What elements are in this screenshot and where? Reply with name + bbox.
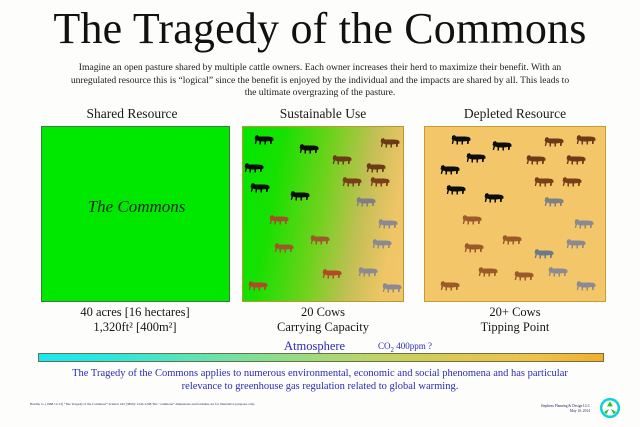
cow-icon xyxy=(243,161,265,174)
cow-icon xyxy=(525,153,547,166)
cow-icon xyxy=(321,267,343,280)
co2-value: 400ppm ? xyxy=(394,341,432,351)
cow-icon xyxy=(377,217,399,230)
cow-icon xyxy=(575,279,597,292)
column-header-shared-resource: Shared Resource xyxy=(35,106,229,122)
cow-icon xyxy=(543,195,565,208)
co2-concentration-label: CO2 400ppm ? xyxy=(378,341,432,354)
cow-icon xyxy=(543,135,565,148)
cow-icon xyxy=(365,161,387,174)
recycle-circle-logo-icon xyxy=(599,397,621,419)
atmosphere-label: Atmosphere xyxy=(284,339,345,354)
caption-depleted-resource: 20+ Cows Tipping Point xyxy=(420,305,610,334)
panel-shared-resource: The Commons xyxy=(41,126,230,302)
caption-line-cow-count: 20+ Cows xyxy=(420,305,610,320)
caption-line-carrying-capacity: Carrying Capacity xyxy=(240,320,406,335)
cow-icon xyxy=(463,241,485,254)
caption-shared-resource: 40 acres [16 hectares] 1,320ft² [400m²] xyxy=(35,305,235,334)
credit-line: May 10, 2014 xyxy=(460,409,590,414)
cow-icon xyxy=(298,142,320,155)
cow-icon xyxy=(369,175,391,188)
cow-icon xyxy=(575,133,597,146)
caption-line-tipping-point: Tipping Point xyxy=(420,320,610,335)
cow-icon xyxy=(477,265,499,278)
intro-paragraph: Imagine an open pasture shared by multip… xyxy=(68,62,572,100)
cow-icon xyxy=(341,175,363,188)
cow-icon xyxy=(439,163,461,176)
cow-icon xyxy=(357,265,379,278)
cow-icon xyxy=(331,153,353,166)
caption-line-cow-count: 20 Cows xyxy=(240,305,406,320)
caption-sustainable-use: 20 Cows Carrying Capacity xyxy=(240,305,406,334)
cow-icon xyxy=(439,279,461,292)
cow-icon xyxy=(533,175,555,188)
cow-icon xyxy=(565,237,587,250)
atmosphere-gradient-bar xyxy=(38,353,604,362)
cow-icon xyxy=(379,136,401,149)
cow-icon xyxy=(309,233,331,246)
citation-note: Hardin, G. (1968 12-13) “The Tragedy of … xyxy=(30,402,260,407)
commons-label: The Commons xyxy=(42,197,230,217)
cow-icon xyxy=(247,279,269,292)
cow-icon xyxy=(289,189,311,202)
cow-icon xyxy=(465,151,487,164)
cow-icon xyxy=(249,181,271,194)
cow-icon xyxy=(273,241,295,254)
cow-icon xyxy=(573,217,595,230)
cow-icon xyxy=(371,237,393,250)
cow-icon xyxy=(547,265,569,278)
cow-icon xyxy=(253,133,275,146)
cow-icon xyxy=(268,213,290,226)
conclusion-text: The Tragedy of the Commons applies to nu… xyxy=(60,368,580,393)
column-header-depleted-resource: Depleted Resource xyxy=(420,106,610,122)
panel-sustainable-use xyxy=(242,126,404,302)
caption-line-area: 40 acres [16 hectares] xyxy=(35,305,235,320)
poster-canvas: The Tragedy of the Commons Imagine an op… xyxy=(0,0,640,427)
cow-icon xyxy=(483,191,505,204)
co2-prefix: CO xyxy=(378,341,391,351)
cow-icon xyxy=(561,175,583,188)
column-header-sustainable-use: Sustainable Use xyxy=(240,106,406,122)
cow-icon xyxy=(461,213,483,226)
credit-note: Stephens Planning & Design LLCMay 10, 20… xyxy=(460,404,590,414)
caption-line-dimensions: 1,320ft² [400m²] xyxy=(35,320,235,335)
cow-icon xyxy=(565,153,587,166)
cow-icon xyxy=(381,281,403,294)
cow-icon xyxy=(501,233,523,246)
cow-icon xyxy=(450,133,472,146)
cow-icon xyxy=(445,183,467,196)
cow-icon xyxy=(355,195,377,208)
cow-icon xyxy=(533,247,555,260)
cow-icon xyxy=(513,269,535,282)
cow-icon xyxy=(491,139,513,152)
page-title: The Tragedy of the Commons xyxy=(0,4,640,54)
panel-depleted-resource xyxy=(424,126,606,302)
